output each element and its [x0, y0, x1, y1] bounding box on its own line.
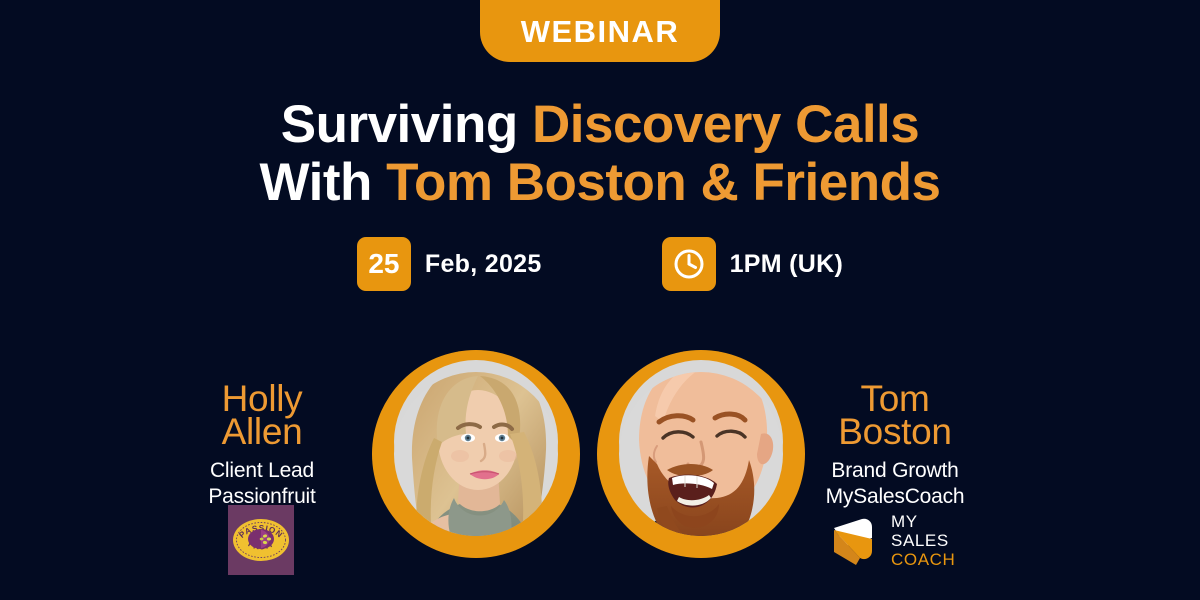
- avatar-photo-holly-allen: [372, 338, 580, 570]
- title-line-2: With Tom Boston & Friends: [0, 154, 1200, 212]
- passionfruit-logo: PASSION FRUIT: [228, 505, 294, 575]
- mysalescoach-logo-lockup: MY SALES COACH: [826, 505, 955, 575]
- title-line-2-accent: Tom Boston & Friends: [386, 153, 940, 212]
- title-line-1: Surviving Discovery Calls: [0, 96, 1200, 154]
- title-line-1-white: Surviving: [281, 95, 532, 154]
- event-date-text: Feb, 2025: [425, 250, 542, 279]
- title-line-2-white: With: [260, 153, 387, 212]
- event-day-number: 25: [368, 250, 399, 278]
- event-meta-row: 25 Feb, 2025 1PM (UK): [0, 237, 1200, 291]
- passionfruit-logo-tile: PASSION FRUIT: [228, 505, 294, 575]
- speaker-role: Brand Growth: [785, 458, 1005, 484]
- speaker-info-holly-allen: Holly Allen Client Lead Passionfruit: [152, 382, 372, 510]
- speaker-name-line-2: Allen: [152, 415, 372, 448]
- calendar-day-icon: 25: [357, 237, 411, 291]
- mysalescoach-wordmark: MY SALES COACH: [891, 512, 955, 569]
- webinar-badge: WEBINAR: [480, 0, 720, 62]
- event-time-text: 1PM (UK): [730, 250, 844, 279]
- mysalescoach-logo: MY SALES COACH: [826, 505, 955, 575]
- title-line-1-accent: Discovery Calls: [532, 95, 919, 154]
- avatar-photo-tom-boston: [597, 338, 805, 570]
- page-title: Surviving Discovery Calls With Tom Bosto…: [0, 96, 1200, 212]
- event-time: 1PM (UK): [662, 237, 844, 291]
- speaker-role: Client Lead: [152, 458, 372, 484]
- mysalescoach-word-my: MY: [891, 512, 955, 531]
- mysalescoach-word-sales: SALES: [891, 531, 955, 550]
- mysalescoach-mark-icon: [826, 508, 882, 572]
- webinar-badge-label: WEBINAR: [521, 12, 680, 47]
- webinar-promo-poster: WEBINAR Surviving Discovery Calls With T…: [0, 0, 1200, 600]
- avatar-holly-allen: [372, 338, 580, 570]
- clock-icon: [662, 237, 716, 291]
- speaker-name-line-2: Boston: [785, 415, 1005, 448]
- speaker-info-tom-boston: Tom Boston Brand Growth MySalesCoach: [785, 382, 1005, 510]
- speakers-section: Holly Allen Client Lead Passionfruit Tom…: [0, 330, 1200, 600]
- event-date: 25 Feb, 2025: [357, 237, 542, 291]
- mysalescoach-word-coach: COACH: [891, 550, 955, 569]
- avatar-tom-boston: [597, 338, 805, 570]
